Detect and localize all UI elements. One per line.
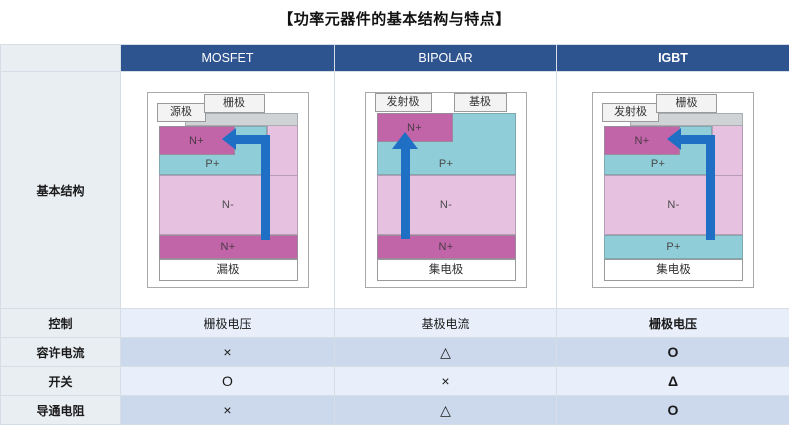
table-corner-cell [1, 45, 121, 72]
cell-structure-bipolar: P+ N- N+ N+ [335, 72, 557, 309]
row-label-structure: 基本结构 [1, 72, 121, 309]
rating-symbol: △ [440, 344, 451, 360]
cell-current-capacity-mosfet: × [121, 338, 335, 367]
cell-current-capacity-igbt: O [557, 338, 789, 367]
column-header-igbt: IGBT [557, 45, 789, 72]
mosfet-structure-diagram: P+ N- N+ N+ [147, 92, 309, 288]
rating-symbol: × [441, 373, 449, 389]
cell-on-resistance-bipolar: △ [335, 396, 557, 425]
rating-symbol: O [668, 402, 679, 418]
cell-structure-igbt: P+ N- N+ P+ [557, 72, 789, 309]
rating-symbol: × [223, 402, 231, 418]
mosfet-layer-n-plus-bottom: N+ [159, 235, 298, 259]
rating-symbol: Δ [668, 373, 678, 389]
rating-symbol: × [223, 344, 231, 360]
bipolar-collector-terminal: 集电极 [377, 259, 516, 281]
rating-symbol: O [222, 373, 233, 389]
cell-control-igbt: 栅极电压 [557, 309, 789, 338]
igbt-gate-terminal: 栅极 [656, 94, 717, 113]
mosfet-layer-n-minus-column [267, 126, 298, 175]
row-label-control: 控制 [1, 309, 121, 338]
page-title: 【功率元器件的基本结构与特点】 [0, 8, 789, 29]
igbt-layer-n-minus: N- [604, 175, 743, 235]
mosfet-gate-terminal: 栅极 [204, 94, 265, 113]
bipolar-structure-diagram: P+ N- N+ N+ [365, 92, 527, 288]
cell-current-capacity-bipolar: △ [335, 338, 557, 367]
cell-switching-bipolar: × [335, 367, 557, 396]
mosfet-source-terminal: 源极 [157, 103, 206, 122]
bipolar-layer-n-plus-bottom: N+ [377, 235, 516, 259]
table-header-row: MOSFET BIPOLAR IGBT [1, 45, 789, 72]
rating-symbol: △ [440, 402, 451, 418]
cell-on-resistance-igbt: O [557, 396, 789, 425]
row-label-current-capacity: 容许电流 [1, 338, 121, 367]
rating-symbol: O [668, 344, 679, 360]
table-row-on-resistance: 导通电阻 × △ O [1, 396, 789, 425]
cell-control-bipolar: 基极电流 [335, 309, 557, 338]
igbt-emitter-terminal: 发射极 [602, 103, 659, 122]
column-header-mosfet: MOSFET [121, 45, 335, 72]
igbt-collector-terminal: 集电极 [604, 259, 743, 281]
table-row-switching: 开关 O × Δ [1, 367, 789, 396]
cell-structure-mosfet: P+ N- N+ N+ [121, 72, 335, 309]
row-label-switching: 开关 [1, 367, 121, 396]
table-row-current-capacity: 容许电流 × △ O [1, 338, 789, 367]
cell-control-mosfet: 栅极电压 [121, 309, 335, 338]
cell-switching-igbt: Δ [557, 367, 789, 396]
table-row-control: 控制 栅极电压 基极电流 栅极电压 [1, 309, 789, 338]
bipolar-emitter-terminal: 发射极 [375, 93, 432, 112]
bipolar-layer-n-minus: N- [377, 175, 516, 235]
table-row-structure: 基本结构 P+ N- [1, 72, 789, 309]
bipolar-base-terminal: 基极 [454, 93, 507, 112]
row-label-on-resistance: 导通电阻 [1, 396, 121, 425]
column-header-bipolar: BIPOLAR [335, 45, 557, 72]
igbt-structure-diagram: P+ N- N+ P+ [592, 92, 754, 288]
page-root: 【功率元器件的基本结构与特点】 MOSFET BIPOLAR IGBT 基本结构 [0, 0, 789, 420]
cell-on-resistance-mosfet: × [121, 396, 335, 425]
igbt-layer-p-plus-bottom: P+ [604, 235, 743, 259]
mosfet-layer-n-minus: N- [159, 175, 298, 235]
comparison-table: MOSFET BIPOLAR IGBT 基本结构 P+ [0, 44, 789, 425]
igbt-layer-n-minus-column [712, 126, 743, 175]
cell-switching-mosfet: O [121, 367, 335, 396]
mosfet-drain-terminal: 漏极 [159, 259, 298, 281]
